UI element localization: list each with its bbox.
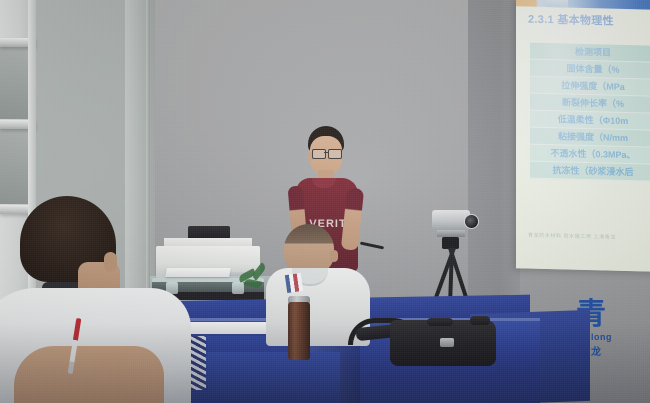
- projection-screen: 2.3.1 基本物理性 检测项目 固体含量（% 拉伸强度（MPa 断裂伸长率（%…: [516, 0, 650, 272]
- attendee-ear: [330, 250, 338, 262]
- attendee-ear: [104, 252, 117, 272]
- seminar-photo: 2.3.1 基本物理性 检测项目 固体含量（% 拉伸强度（MPa 断裂伸长率（%…: [0, 0, 650, 403]
- plant-leaf: [243, 278, 262, 289]
- camera-lens-icon: [464, 214, 479, 229]
- glasses-lens: [312, 149, 326, 159]
- slide-logo-chip: [546, 0, 568, 8]
- eyeglasses-icon: [312, 149, 342, 157]
- glasses-lens: [328, 149, 342, 159]
- slide-title: 2.3.1 基本物理性: [528, 11, 650, 30]
- video-camera: [432, 210, 470, 230]
- shirt-stripe-detail: [285, 273, 303, 293]
- slide-table: 检测项目 固体含量（% 拉伸强度（MPa 断裂伸长率（% 低温柔性（Φ10m 粘…: [530, 43, 650, 182]
- attendee-head: [284, 224, 334, 274]
- shelf-cavity: [0, 47, 28, 119]
- slide-header-bar: [516, 0, 650, 10]
- floor-shadow: [0, 323, 650, 403]
- camera-mount: [437, 230, 465, 237]
- slide-table-row: 抗冻性（砂浆浸水后: [530, 162, 650, 182]
- slide-surface: 2.3.1 基本物理性 检测项目 固体含量（% 拉伸强度（MPa 断裂伸长率（%…: [516, 0, 650, 272]
- shelf-cavity: [0, 129, 28, 204]
- slide-footer-text: 青龙防水材料 防水施工用 上海青龙: [528, 232, 650, 242]
